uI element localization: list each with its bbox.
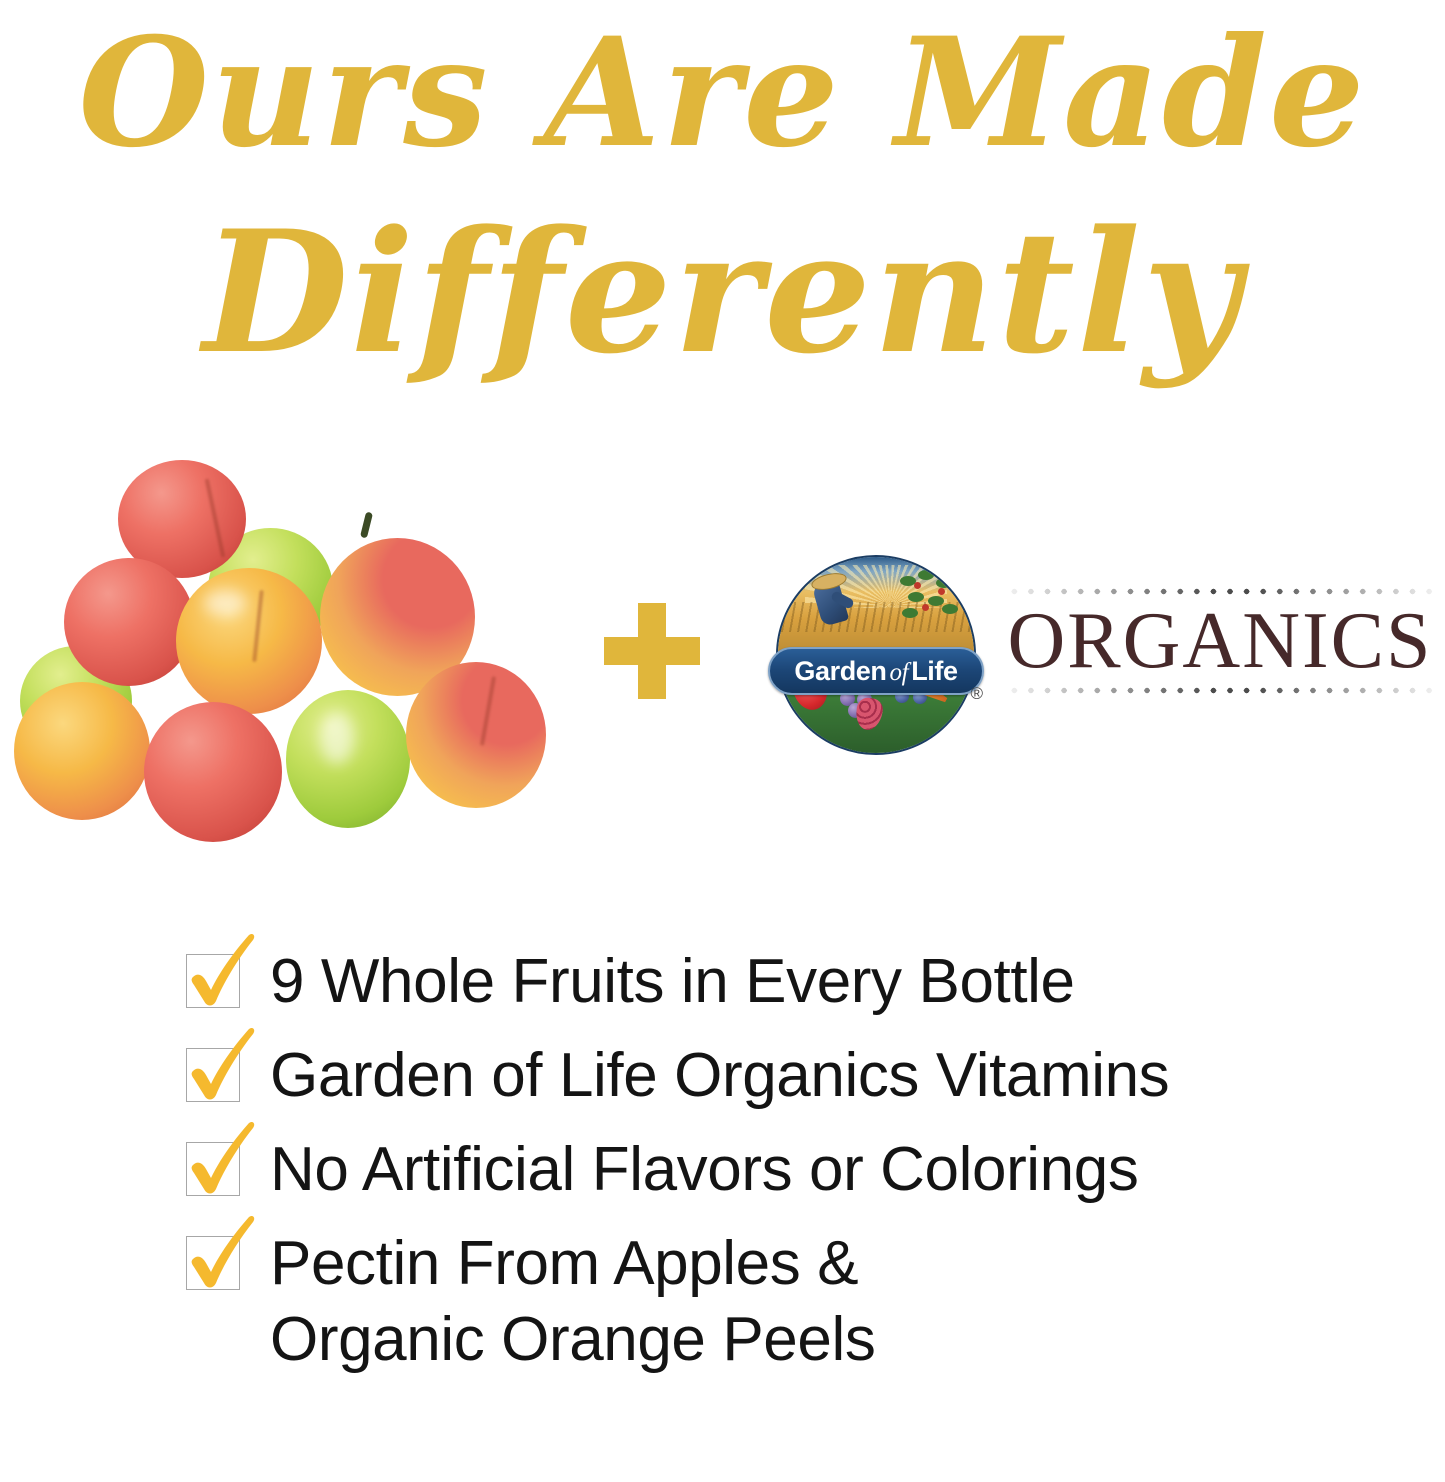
checkbox-checked-icon[interactable] [186,954,240,1008]
logo-word-garden: Garden [794,656,886,686]
fruit-peach [406,662,546,808]
fruit-peach [144,702,282,842]
plus-bar-vertical [638,603,666,699]
fruit-peach [14,682,150,820]
fruit-highlight [204,590,246,616]
checkbox-checked-icon[interactable] [186,1142,240,1196]
organics-text: ORGANICS [1000,601,1440,681]
list-item-label: No Artificial Flavors or Colorings [270,1132,1138,1208]
logo-name-band: GardenofLife [768,647,984,695]
fruit-apple [286,690,410,828]
plus-icon [604,603,700,699]
infographic-page: Ours Are Made Differently [0,0,1445,1482]
feature-checklist: 9 Whole Fruits in Every Bottle Garden of… [186,944,1416,1396]
raspberry-icon [854,696,885,732]
headline-line-2: Differently [0,208,1445,376]
berry-bush-icon [898,570,960,622]
list-item-label: Garden of Life Organics Vitamins [270,1038,1169,1114]
logo-field-scene [778,557,974,659]
garden-of-life-logo: GardenofLife ® [768,552,984,768]
list-item: Garden of Life Organics Vitamins [186,1038,1416,1114]
logo-word-life: Life [911,656,957,686]
apple-stem-icon [360,512,373,539]
fruit-peach [176,568,322,714]
fruit-peach [64,558,194,686]
dotted-rule-bottom [1006,687,1436,694]
logo-word-of: of [887,659,912,686]
checkbox-checked-icon[interactable] [186,1048,240,1102]
headline-line-1: Ours Are Made [0,18,1445,168]
middle-row: GardenofLife ® ORGANICS [0,440,1445,880]
list-item: 9 Whole Fruits in Every Bottle [186,944,1416,1020]
checkbox-checked-icon[interactable] [186,1236,240,1290]
fruit-highlight [320,712,354,764]
list-item-label: 9 Whole Fruits in Every Bottle [270,944,1075,1020]
organics-wordmark: ORGANICS [1000,582,1440,712]
dotted-rule-top [1006,588,1436,595]
list-item: Pectin From Apples & Organic Orange Peel… [186,1226,1416,1378]
fruit-photo [8,450,588,870]
logo-brand-name: GardenofLife [794,658,957,685]
registered-trademark-symbol: ® [970,684,983,704]
list-item-label: Pectin From Apples & Organic Orange Peel… [270,1226,875,1378]
list-item: No Artificial Flavors or Colorings [186,1132,1416,1208]
